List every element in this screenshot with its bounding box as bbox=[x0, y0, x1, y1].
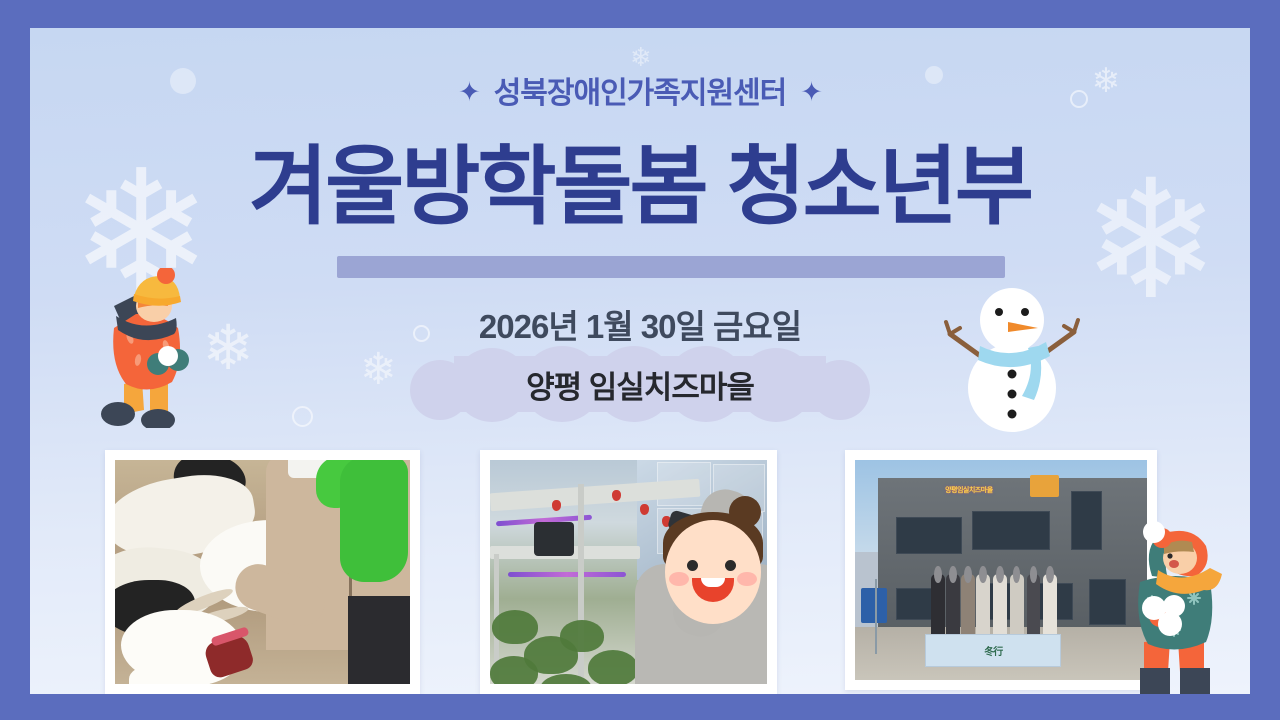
building-sign-badge bbox=[1030, 475, 1059, 497]
strawberry-plant bbox=[492, 610, 538, 644]
photo-goat-feeding-image bbox=[115, 460, 410, 684]
strawberry bbox=[640, 504, 649, 515]
sparkle-right-icon: ✦ bbox=[800, 77, 822, 108]
sparkle-left-icon: ✦ bbox=[458, 77, 480, 108]
grow-light bbox=[508, 572, 626, 577]
strawberry-plant bbox=[490, 656, 538, 684]
photo-group-cheese-village-image: 양평임실치즈마을 bbox=[855, 460, 1147, 680]
snowman-character bbox=[942, 276, 1082, 434]
photo-strawberry-picking-image bbox=[490, 460, 767, 684]
strawberry bbox=[552, 500, 561, 511]
strawberry bbox=[612, 490, 621, 501]
green-scarf bbox=[340, 460, 408, 582]
kid-teal-right-icon bbox=[1118, 520, 1238, 694]
kid-orange-left-icon bbox=[88, 268, 218, 428]
parking-notice-sign bbox=[861, 588, 887, 623]
strawberry-plant bbox=[560, 620, 604, 652]
snowman-icon bbox=[942, 276, 1082, 434]
building-sign-text: 양평임실치즈마을 bbox=[902, 480, 1036, 500]
poster-frame: ❄ ❄ ❄ ❄ ❄ ❄ ❄ ❄ ✦성북장애인가족지원센터✦ 겨울방학돌봄 청소년… bbox=[0, 0, 1280, 720]
event-banner: 冬行 bbox=[925, 634, 1061, 667]
building-window bbox=[896, 517, 962, 554]
strawberry-plant bbox=[588, 650, 638, 684]
event-banner-text: 冬行 bbox=[984, 643, 1002, 658]
photo-goat-feeding bbox=[105, 450, 420, 694]
photo-group-cheese-village: 양평임실치즈마을 bbox=[845, 450, 1157, 690]
building-window bbox=[1071, 491, 1102, 550]
location-badge: 양평 임실치즈마을 bbox=[410, 346, 870, 422]
support-beam bbox=[578, 484, 584, 684]
sticker-hair-bun bbox=[729, 496, 761, 528]
kid-teal-right-character bbox=[1118, 520, 1238, 694]
ventilation-fan bbox=[534, 522, 574, 556]
smiley-face-sticker bbox=[665, 520, 761, 624]
organization-name: ✦성북장애인가족지원센터✦ bbox=[30, 68, 1250, 112]
kid-orange-left-character bbox=[88, 268, 218, 428]
small-snowflake-top-center-icon: ❄ bbox=[630, 44, 652, 70]
photo-strawberry-picking bbox=[480, 450, 777, 694]
photo-strip: 양평임실치즈마을 bbox=[30, 450, 1250, 694]
organization-label: 성북장애인가족지원센터 bbox=[494, 77, 787, 110]
poster-canvas: ❄ ❄ ❄ ❄ ❄ ❄ ❄ ❄ ✦성북장애인가족지원센터✦ 겨울방학돌봄 청소년… bbox=[30, 28, 1250, 694]
sticker-smile bbox=[692, 578, 734, 602]
location-label: 양평 임실치즈마을 bbox=[410, 346, 870, 422]
small-snowflake-mid-icon: ❄ bbox=[360, 348, 397, 392]
visitor-pants bbox=[348, 596, 410, 684]
page-title: 겨울방학돌봄 청소년부 bbox=[30, 116, 1250, 241]
sticker-eye bbox=[725, 560, 736, 571]
building-window bbox=[972, 511, 1050, 550]
sticker-cheek bbox=[669, 572, 689, 586]
title-divider-bar bbox=[337, 256, 1005, 278]
decorative-circle bbox=[292, 406, 313, 427]
light-pole bbox=[875, 579, 877, 654]
sticker-cheek bbox=[737, 572, 757, 586]
sticker-eye bbox=[687, 560, 698, 571]
